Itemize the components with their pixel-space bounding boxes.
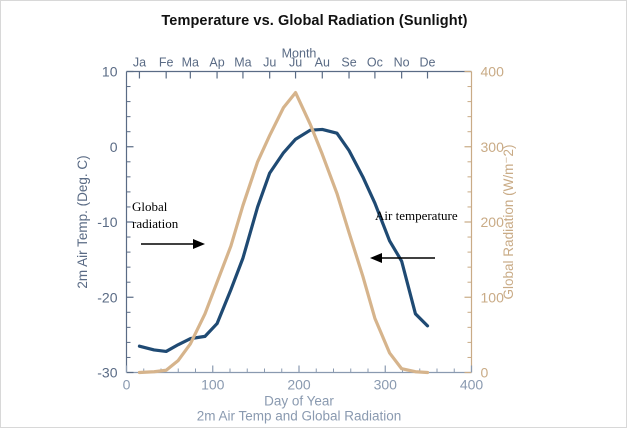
top-axis-label: Month <box>282 47 317 61</box>
bottom-axis-label: Day of Year <box>264 394 334 409</box>
right-axis-tick-label: 400 <box>481 64 505 80</box>
global-radiation-annotation-line1: Global <box>132 199 168 214</box>
plot-canvas: -30-20-100102m Air Temp. (Deg. C)0100200… <box>1 1 627 429</box>
bottom-axis-tick-label: 100 <box>201 377 225 393</box>
bottom-axis-tick-label: 0 <box>123 377 131 393</box>
top-axis-month-label: Ja <box>133 56 146 70</box>
left-axis-label: 2m Air Temp. (Deg. C) <box>75 155 90 288</box>
top-axis-month-label: De <box>420 56 436 70</box>
top-axis-month-label: Se <box>341 56 356 70</box>
top-axis-month-label: Au <box>315 56 330 70</box>
global-radiation-annotation-line2: radiation <box>132 216 179 231</box>
top-axis-month-label: Ju <box>263 56 276 70</box>
top-axis-month-label: No <box>394 56 410 70</box>
air-temperature-annotation: Air temperature <box>375 208 458 223</box>
right-axis-label: Global Radiation (W/m⁻2) <box>501 145 516 300</box>
top-axis-month-label: Fe <box>159 56 174 70</box>
left-axis-tick-label: -20 <box>97 289 117 305</box>
bottom-axis-tick-label: 200 <box>287 377 311 393</box>
left-axis-tick-label: -30 <box>97 365 117 381</box>
global-radiation-arrow-head <box>193 239 205 249</box>
bottom-axis-tick-label: 300 <box>374 377 398 393</box>
chart-figure: Temperature vs. Global Radiation (Sunlig… <box>0 0 627 428</box>
air-temperature-arrow-head <box>370 253 382 263</box>
top-axis-month-label: Ap <box>209 56 224 70</box>
top-axis-month-label: Ma <box>182 56 199 70</box>
left-axis-tick-label: 10 <box>102 64 118 80</box>
temperature-line <box>139 129 427 351</box>
left-axis-tick-label: 0 <box>110 139 118 155</box>
left-axis-tick-label: -10 <box>97 214 117 230</box>
bottom-axis-tick-label: 400 <box>460 377 484 393</box>
radiation-line <box>139 93 427 373</box>
top-axis-month-label: Ma <box>234 56 251 70</box>
top-axis-month-label: Oc <box>367 56 383 70</box>
bottom-axis-sublabel: 2m Air Temp and Global Radiation <box>197 409 402 424</box>
